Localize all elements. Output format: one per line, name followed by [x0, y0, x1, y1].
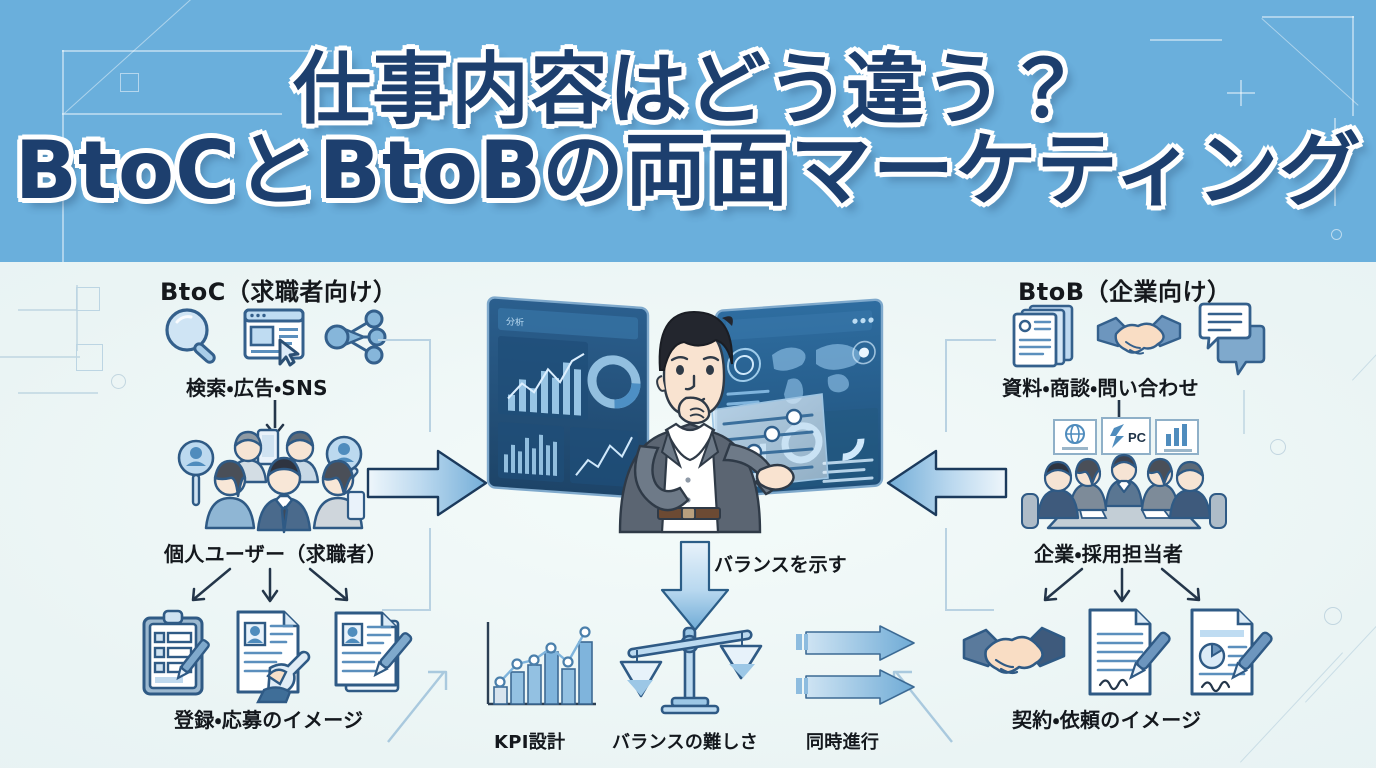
report-signature-icon [1182, 606, 1270, 702]
contract-signature-icon [1080, 606, 1168, 702]
left-branch-arrows [160, 565, 380, 611]
scales-balance-icon [622, 614, 762, 714]
body-deco-square-2 [76, 344, 103, 371]
left-column-heading: BtoC（求職者向け） [160, 272, 397, 307]
people-group-icon [172, 420, 372, 532]
infographic-canvas: 仕事内容はどう違う？ BtoCとBtoBの両面マーケティング BtoC（求職者向… [0, 0, 1376, 768]
page-title-line-1: 仕事内容はどう違う？ [293, 51, 1083, 129]
body-deco-circle-2 [1270, 439, 1286, 455]
body-deco-line-3 [76, 285, 78, 351]
header-band: 仕事内容はどう違う？ BtoCとBtoBの両面マーケティング [0, 0, 1376, 262]
right-action-caption: 契約・依頼のイメージ [1012, 704, 1201, 733]
body-deco-line-5 [1243, 390, 1245, 434]
svg-text:PC: PC [1128, 430, 1147, 445]
body-deco-diagonal-2 [1305, 620, 1376, 703]
arrow-right-to-center [884, 444, 1008, 522]
resume-hand-writing-icon [226, 606, 318, 702]
balance-note-label: バランスを示す [714, 550, 847, 577]
clipboard-checklist-icon [136, 608, 216, 700]
right-branch-arrows [1012, 565, 1232, 611]
body-deco-line-2 [18, 309, 76, 311]
web-page-cursor-icon [240, 304, 310, 366]
body-deco-square-1 [76, 287, 100, 311]
left-channel-icons [160, 304, 386, 366]
right-action-icons [962, 606, 1270, 702]
simultaneous-caption: 同時進行 [806, 728, 879, 754]
right-channel-caption: 資料・商談・問い合わせ [1002, 372, 1199, 401]
documents-stack-icon [1008, 302, 1080, 368]
left-channel-caption: 検索・広告・SNS [186, 372, 328, 401]
handshake-icon [1096, 306, 1182, 368]
chat-bubbles-icon [1196, 302, 1268, 368]
bar-line-chart-icon [478, 618, 602, 714]
handshake-icon [962, 616, 1066, 692]
body-deco-circle-3 [1324, 607, 1342, 625]
meeting-room-icon: PC [1018, 418, 1230, 534]
body-area: BtoC（求職者向け） [0, 262, 1376, 768]
left-action-caption: 登録・応募のイメージ [174, 704, 363, 733]
search-magnifier-icon [160, 304, 226, 366]
balance-difficulty-caption: バランスの難しさ [612, 728, 758, 754]
businessman-dashboard-illustration: 分析 [472, 284, 892, 536]
right-channel-icons [1008, 302, 1268, 368]
resume-pen-icon [328, 607, 414, 701]
body-deco-line-1 [18, 392, 98, 394]
kpi-caption: KPI設計 [494, 728, 565, 754]
left-audience-caption: 個人ユーザー（求職者） [164, 538, 387, 567]
left-action-icons [136, 606, 414, 702]
title-block: 仕事内容はどう違う？ BtoCとBtoBの両面マーケティング [0, 0, 1376, 262]
share-network-icon [324, 308, 386, 366]
double-arrow-icon [796, 624, 916, 710]
body-deco-circle-1 [111, 374, 126, 389]
body-deco-diagonal-3 [1352, 348, 1376, 381]
page-title-line-2: BtoCとBtoBの両面マーケティング [14, 131, 1361, 211]
right-audience-caption: 企業・採用担当者 [1034, 538, 1183, 567]
body-deco-line-4 [0, 356, 80, 358]
